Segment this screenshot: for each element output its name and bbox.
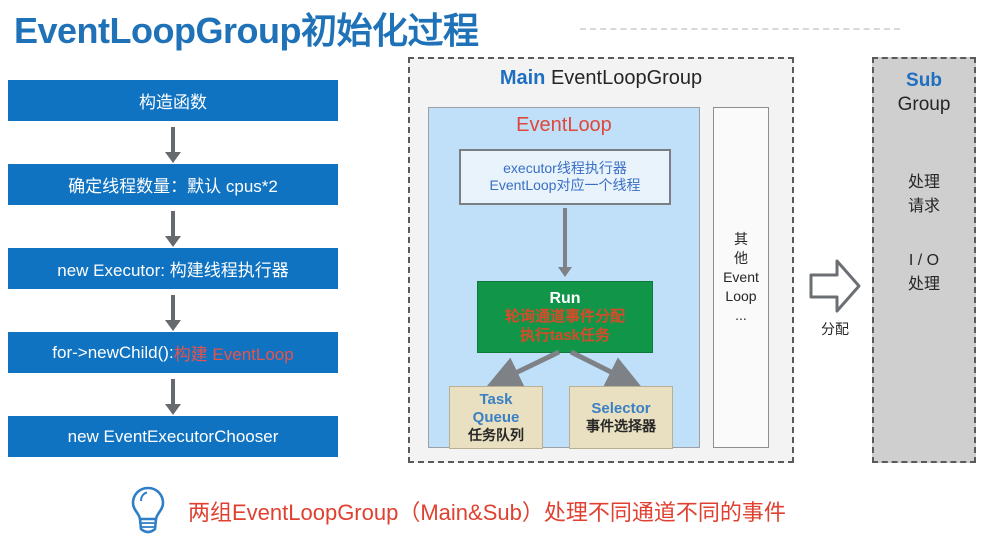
lightbulb-icon — [128, 485, 168, 537]
flow-step-1-label: 构造函数 — [139, 88, 207, 113]
main-eventloopgroup-panel: Main EventLoopGroup EventLoop executor线程… — [408, 57, 794, 463]
main-title-rest: EventLoopGroup — [545, 67, 702, 89]
allocation-label: 分配 — [800, 319, 870, 339]
sub-group-duty-request-1: 处理 — [874, 171, 974, 195]
flow-step-3[interactable]: new Executor: 构建线程执行器 — [8, 248, 338, 289]
sub-group-title-rest: Group — [874, 93, 974, 117]
main-title-accent: Main — [500, 67, 546, 89]
flow-step-2-label: 确定线程数量：默认 cpus*2 — [68, 172, 278, 197]
flow-step-2[interactable]: 确定线程数量：默认 cpus*2 — [8, 164, 338, 205]
selector-label-cn: 事件选择器 — [586, 418, 656, 435]
selector-label-en: Selector — [591, 400, 650, 418]
run-line-2: 执行task任务 — [520, 327, 610, 345]
flow-step-4-highlight: 构建 EventLoop — [174, 340, 294, 365]
flow-arrow-1 — [171, 127, 175, 153]
executor-to-run-arrow — [563, 208, 567, 268]
task-queue-label-1: Task — [479, 391, 512, 409]
flow-step-3-label: new Executor: 构建线程执行器 — [57, 256, 288, 281]
block-arrow-right-icon — [807, 255, 863, 317]
flow-arrow-2 — [171, 211, 175, 237]
run-line-1: 轮询通道事件分配 — [505, 308, 625, 326]
selector-box[interactable]: Selector 事件选择器 — [569, 386, 673, 449]
flow-step-1[interactable]: 构造函数 — [8, 80, 338, 121]
flow-step-4[interactable]: for->newChild():构建 EventLoop — [8, 332, 338, 373]
page-title: EventLoopGroup初始化过程 — [14, 2, 478, 54]
sub-group-duty-io-1: I / O — [874, 249, 974, 273]
task-queue-box[interactable]: Task Queue 任务队列 — [449, 386, 543, 449]
eventloop-title: EventLoop — [429, 114, 699, 137]
other-eventloop-line-3: Event — [723, 268, 759, 287]
sub-group-panel[interactable]: Sub Group 处理 请求 I / O 处理 — [872, 57, 976, 463]
other-eventloop-line-2: 他 — [734, 249, 748, 268]
executor-line-1: executor线程执行器 — [503, 160, 627, 178]
run-box[interactable]: Run 轮询通道事件分配 执行task任务 — [477, 281, 653, 353]
run-label: Run — [549, 289, 580, 309]
footer-caption: 两组EventLoopGroup（Main&Sub）处理不同通道不同的事件 — [188, 495, 786, 527]
other-eventloop-line-4: Loop — [725, 287, 756, 306]
task-queue-label-cn: 任务队列 — [468, 427, 524, 444]
sub-group-title: Sub Group — [874, 69, 974, 117]
main-eventloopgroup-title: Main EventLoopGroup — [410, 67, 792, 90]
flow-step-4-prefix: for->newChild(): — [52, 343, 173, 363]
allocation-arrow-group: 分配 — [800, 255, 870, 339]
sub-group-duty-io: I / O 处理 — [874, 249, 974, 297]
top-dashed-rule — [580, 28, 900, 30]
flow-step-5-label: new EventExecutorChooser — [68, 427, 279, 447]
footer-note: 两组EventLoopGroup（Main&Sub）处理不同通道不同的事件 — [128, 485, 786, 537]
sub-group-duty-request-2: 请求 — [874, 195, 974, 219]
task-queue-label-2: Queue — [473, 409, 520, 427]
diagram-canvas: EventLoopGroup初始化过程 构造函数 确定线程数量：默认 cpus*… — [0, 0, 1000, 549]
eventloop-box[interactable]: EventLoop executor线程执行器 EventLoop对应一个线程 … — [428, 107, 700, 448]
executor-line-2: EventLoop对应一个线程 — [490, 177, 641, 195]
sub-group-duty-request: 处理 请求 — [874, 171, 974, 219]
flow-arrow-3 — [171, 295, 175, 321]
flow-step-5[interactable]: new EventExecutorChooser — [8, 416, 338, 457]
sub-group-duty-io-2: 处理 — [874, 273, 974, 297]
executor-box[interactable]: executor线程执行器 EventLoop对应一个线程 — [459, 149, 671, 205]
other-eventloop-column[interactable]: 其 他 Event Loop ... — [713, 107, 769, 448]
sub-group-title-accent: Sub — [874, 69, 974, 93]
flow-arrow-4 — [171, 379, 175, 405]
other-eventloop-line-1: 其 — [734, 230, 748, 249]
other-eventloop-line-5: ... — [735, 306, 747, 325]
